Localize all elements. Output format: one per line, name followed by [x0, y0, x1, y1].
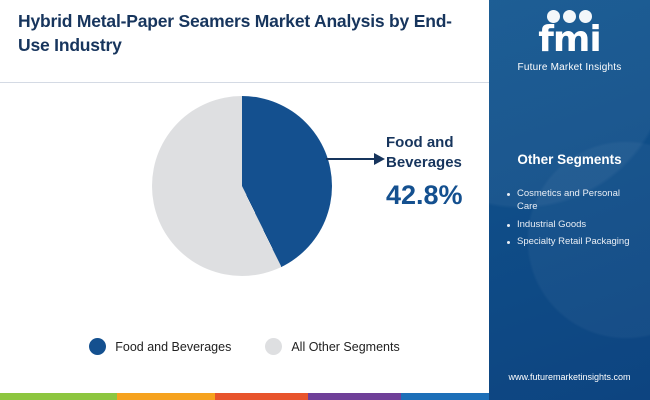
- fmi-logo: fmi Future Market Insights: [489, 8, 650, 73]
- legend-swatch-icon: [89, 338, 106, 355]
- callout-arrow-icon: [374, 153, 385, 165]
- logo-wordmark: fmi: [489, 22, 650, 58]
- legend-label: Food and Beverages: [115, 340, 231, 354]
- logo-dots-icon: [489, 10, 650, 23]
- callout-value: 42.8%: [386, 180, 463, 211]
- title-divider: [0, 82, 489, 83]
- callout-label: Food and Beverages: [386, 133, 486, 174]
- bar-segment-orange: [117, 393, 215, 400]
- bar-segment-green: [0, 393, 117, 400]
- chart-legend: Food and Beverages All Other Segments: [0, 338, 489, 355]
- bottom-color-bar: [0, 393, 489, 400]
- list-item: Specialty Retail Packaging: [507, 236, 639, 249]
- logo-dot-icon: [579, 10, 592, 23]
- legend-item: Food and Beverages: [89, 338, 231, 355]
- left-panel: Hybrid Metal-Paper Seamers Market Analys…: [0, 0, 489, 400]
- list-item: Industrial Goods: [507, 219, 639, 232]
- website-url[interactable]: www.futuremarketinsights.com: [489, 372, 650, 382]
- page-title: Hybrid Metal-Paper Seamers Market Analys…: [18, 10, 468, 57]
- logo-dot-icon: [563, 10, 576, 23]
- sidebar-panel: fmi Future Market Insights Other Segment…: [489, 0, 650, 400]
- legend-item: All Other Segments: [265, 338, 399, 355]
- pie-chart: [152, 96, 332, 276]
- legend-label: All Other Segments: [291, 340, 399, 354]
- callout-leader-line: [326, 158, 380, 160]
- infographic-root: Hybrid Metal-Paper Seamers Market Analys…: [0, 0, 650, 400]
- pie-graphic: [152, 96, 332, 276]
- bar-segment-blue: [401, 393, 489, 400]
- list-item: Cosmetics and Personal Care: [507, 188, 639, 214]
- other-segments-list: Cosmetics and Personal Care Industrial G…: [507, 188, 639, 254]
- bar-segment-purple: [308, 393, 401, 400]
- other-segments-title: Other Segments: [489, 152, 650, 167]
- bar-segment-red: [215, 393, 308, 400]
- legend-swatch-icon: [265, 338, 282, 355]
- logo-dot-icon: [547, 10, 560, 23]
- logo-tagline: Future Market Insights: [489, 62, 650, 73]
